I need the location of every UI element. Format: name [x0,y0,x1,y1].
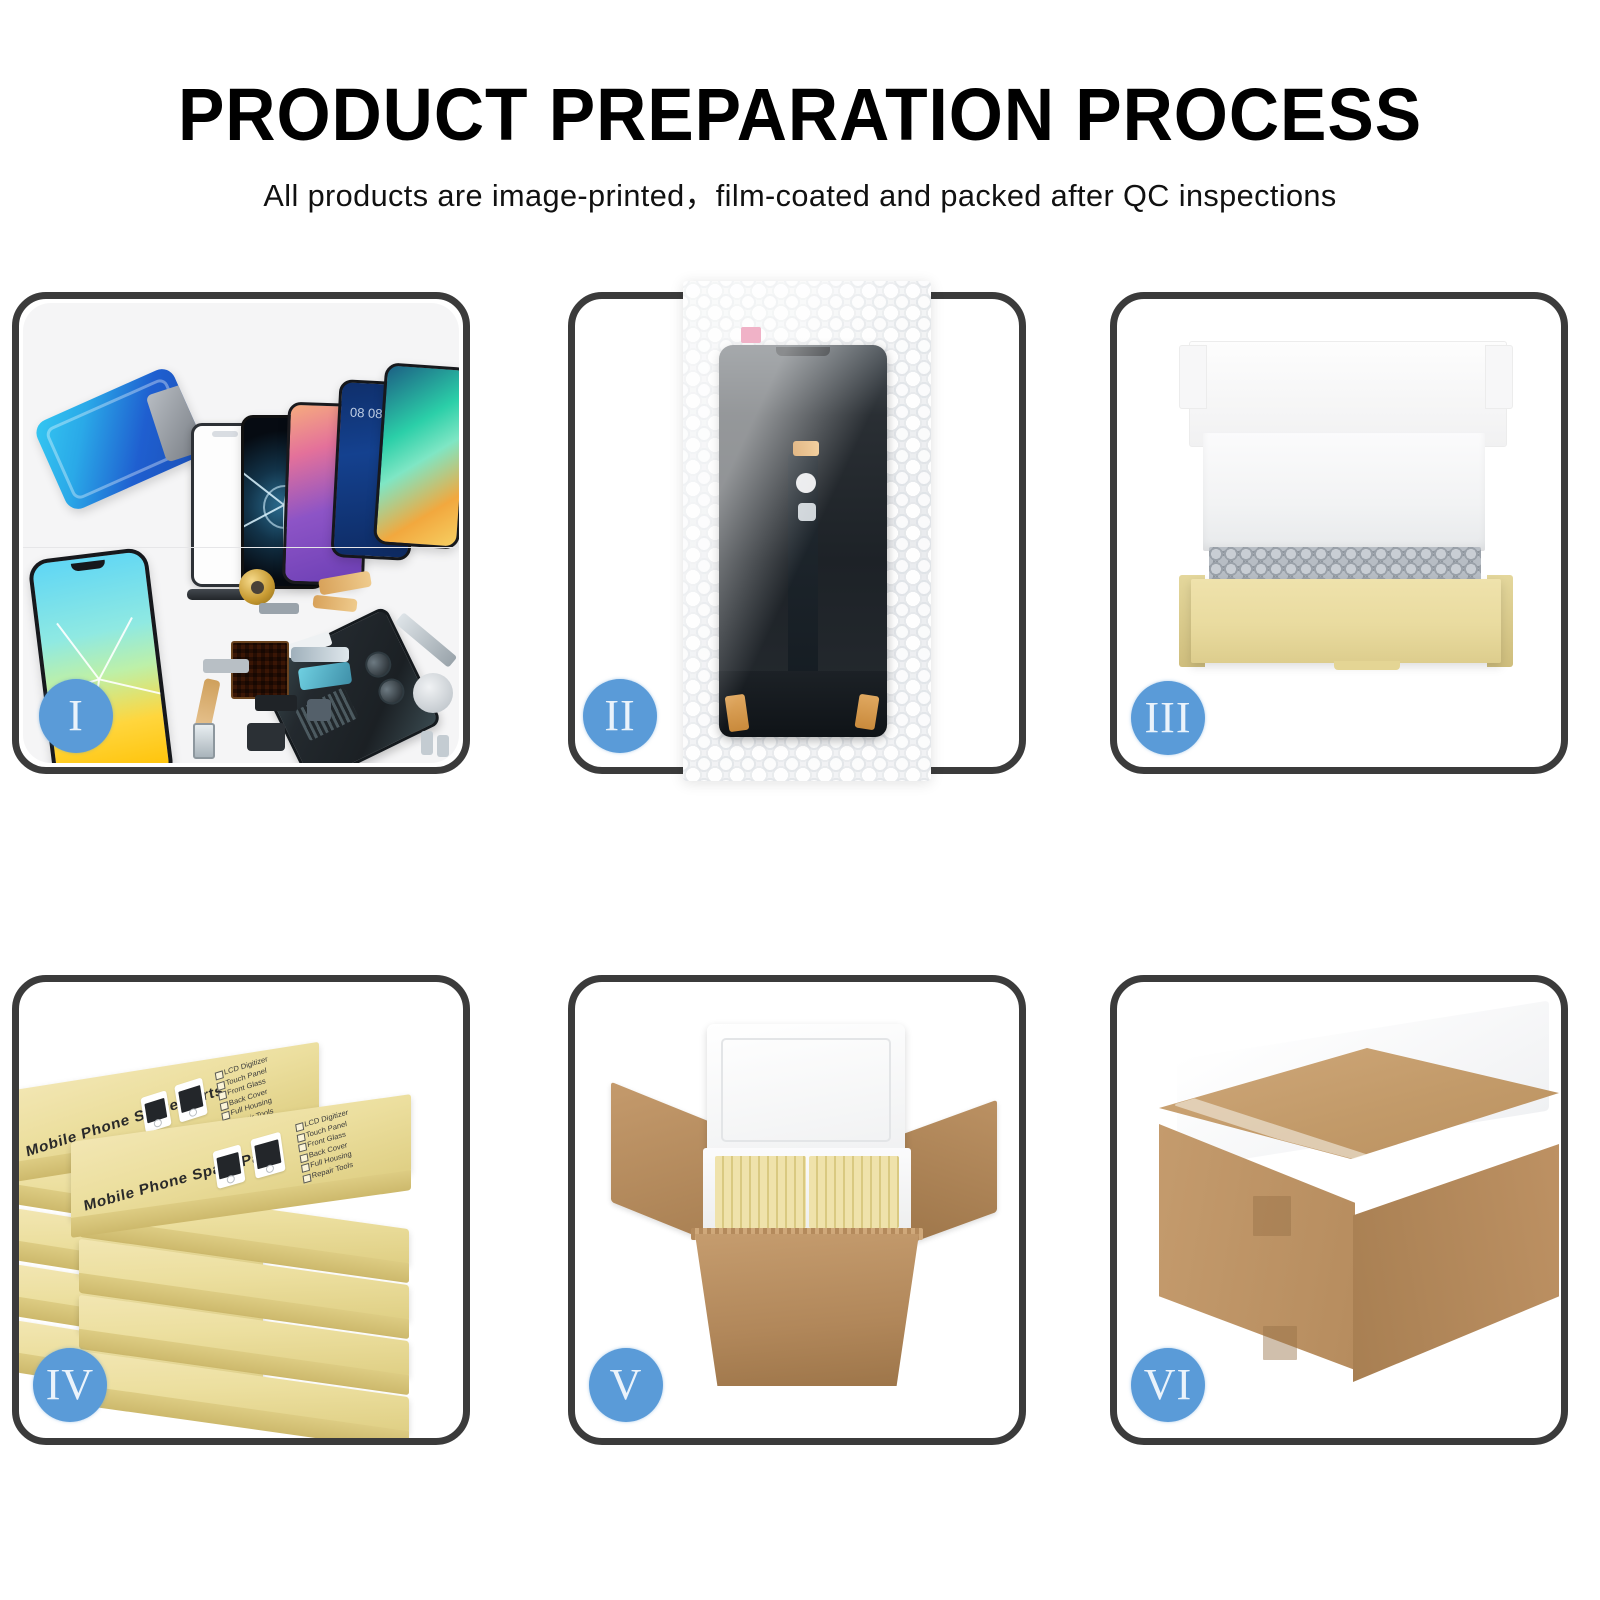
sealed-shipping-carton-image [1135,1026,1565,1416]
carton-flap-right [897,1100,997,1248]
retail-box-checklist: LCD Digitizer Touch Panel Front Glass Ba… [295,1108,356,1184]
screen-graphic [140,1090,171,1133]
kraft-box-tray [1191,579,1501,663]
mailer-box-image [1181,341,1511,721]
vibrator-motor-part [255,695,297,711]
carton-seal-sticker [1253,1196,1291,1236]
carton-front-face [1159,1124,1355,1370]
screwdriver-bit-part [421,731,433,755]
flex-cable-part [312,595,357,613]
carton-body [695,1234,919,1386]
screen-graphic [212,1144,245,1189]
step-panel-6: VI [1110,975,1568,1445]
carton-side-face [1353,1144,1559,1382]
screen-graphic [250,1132,285,1179]
step-panel-5: V [568,975,1026,1445]
carton-with-foam-liner-image [611,1022,997,1414]
bubble-wrapped-screen-image [683,281,931,781]
step-panel-1: 08 08 [12,292,470,774]
process-steps-grid: 08 08 [0,0,1600,1600]
step-badge-3: III [1131,681,1205,755]
step-badge-1: I [39,679,113,753]
step-panel-2: II [568,292,1026,774]
box-lid [1189,341,1507,447]
button-flex-part [203,659,249,673]
camera-module-part [307,699,331,721]
step-panel-4: Mobile Phone Spare Parts LCD Digitizer T… [12,975,470,1445]
step-panel-3: III [1110,292,1568,774]
wireless-charging-coil-part [239,569,275,605]
packed-retail-boxes [715,1156,899,1228]
adhesive-frame-part [32,365,208,514]
bubble-wrap-sheen [683,281,931,781]
teal-phone-screen [373,362,459,550]
foam-sheet [1203,433,1485,551]
loudspeaker-part [247,723,285,751]
sim-tray-part [193,723,215,759]
styrofoam-lid [707,1024,905,1156]
flex-cable-part [291,647,349,662]
carton-seal-sticker [1263,1326,1297,1360]
flex-cable-part [259,603,299,614]
step-badge-6: VI [1131,1348,1205,1422]
box-lid-tab-left [1179,345,1207,409]
step-badge-4: IV [33,1348,107,1422]
step-badge-2: II [583,679,657,753]
step-badge-5: V [589,1348,663,1422]
box-lid-tab-right [1485,345,1513,409]
screwdriver-bit-part [437,735,449,757]
screen-graphic [174,1077,208,1122]
cleaning-brush-tool [413,673,453,713]
